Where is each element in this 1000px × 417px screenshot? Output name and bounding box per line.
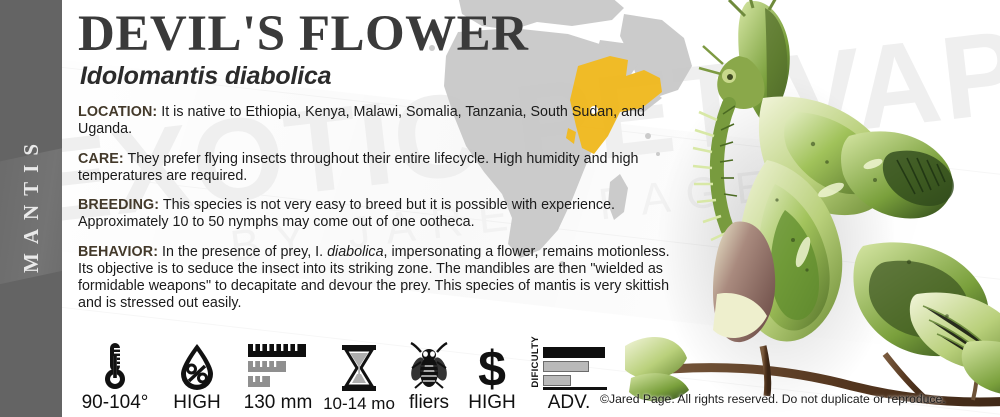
breeding-label: BREEDING: [78,197,159,213]
stat-size: 130 mm [236,330,320,412]
location-label: LOCATION: [78,104,157,120]
page-title: DEVIL'S FLOWER [78,8,678,60]
sidebar-category-label: MANTIS [0,0,62,417]
sidebar: MANTIS [0,0,62,417]
behavior-text-before: In the presence of prey, I. [158,244,327,260]
location-text: It is native to Ethiopia, Kenya, Malawi,… [78,104,645,137]
breeding-text: This species is not very easy to breed b… [78,197,615,230]
section-care: CARE: They prefer flying insects through… [78,151,678,185]
ruler-size-icon [247,340,309,390]
scientific-name: Idolomantis diabolica [80,62,678,91]
dollar-sign-icon: $ [476,340,508,390]
care-icon-strip: 90-104° HIGH [72,330,614,412]
fly-icon [408,340,450,390]
copyright-notice: ©Jared Page. All rights reserved. Do not… [600,392,946,406]
sidebar-category-text: MANTIS [19,135,44,282]
section-behavior: BEHAVIOR: In the presence of prey, I. di… [78,244,678,311]
lifespan-value: 10-14 mo [323,395,395,412]
size-value: 130 mm [244,393,313,412]
difficulty-bar-chart-icon: DIFICULTY [531,340,607,390]
stat-temperature: 90-104° [72,330,158,412]
temperature-value: 90-104° [82,393,149,412]
difficulty-axis-line [543,387,607,390]
care-label: CARE: [78,151,124,167]
difficulty-axis-label: DIFICULTY [531,336,541,388]
difficulty-value: ADV. [548,393,591,412]
stat-humidity: HIGH [158,330,236,412]
cost-value: HIGH [468,393,516,412]
hourglass-icon [339,342,379,392]
text-content: DEVIL'S FLOWER Idolomantis diabolica LOC… [78,8,678,312]
stat-cost: $ HIGH [460,330,524,412]
behavior-label: BEHAVIOR: [78,244,158,260]
thermometer-icon [100,340,130,390]
section-location: LOCATION: It is native to Ethiopia, Keny… [78,104,678,138]
stat-lifespan: 10-14 mo [320,330,398,412]
humidity-value: HIGH [173,393,221,412]
section-breeding: BREEDING: This species is not very easy … [78,197,678,231]
svg-text:$: $ [478,342,506,390]
difficulty-bar-high [543,347,605,358]
humidity-drop-percent-icon [177,340,217,390]
behavior-italic-species: diabolica [327,244,383,260]
species-info-card: EXOTIC PET VAPOR BY JARED PAGE [0,0,1000,417]
care-text: They prefer flying insects throughout th… [78,151,638,184]
stat-food: fliers [398,330,460,412]
difficulty-bar-medium [543,361,589,372]
food-value: fliers [409,393,449,412]
difficulty-bar-low [543,375,571,386]
